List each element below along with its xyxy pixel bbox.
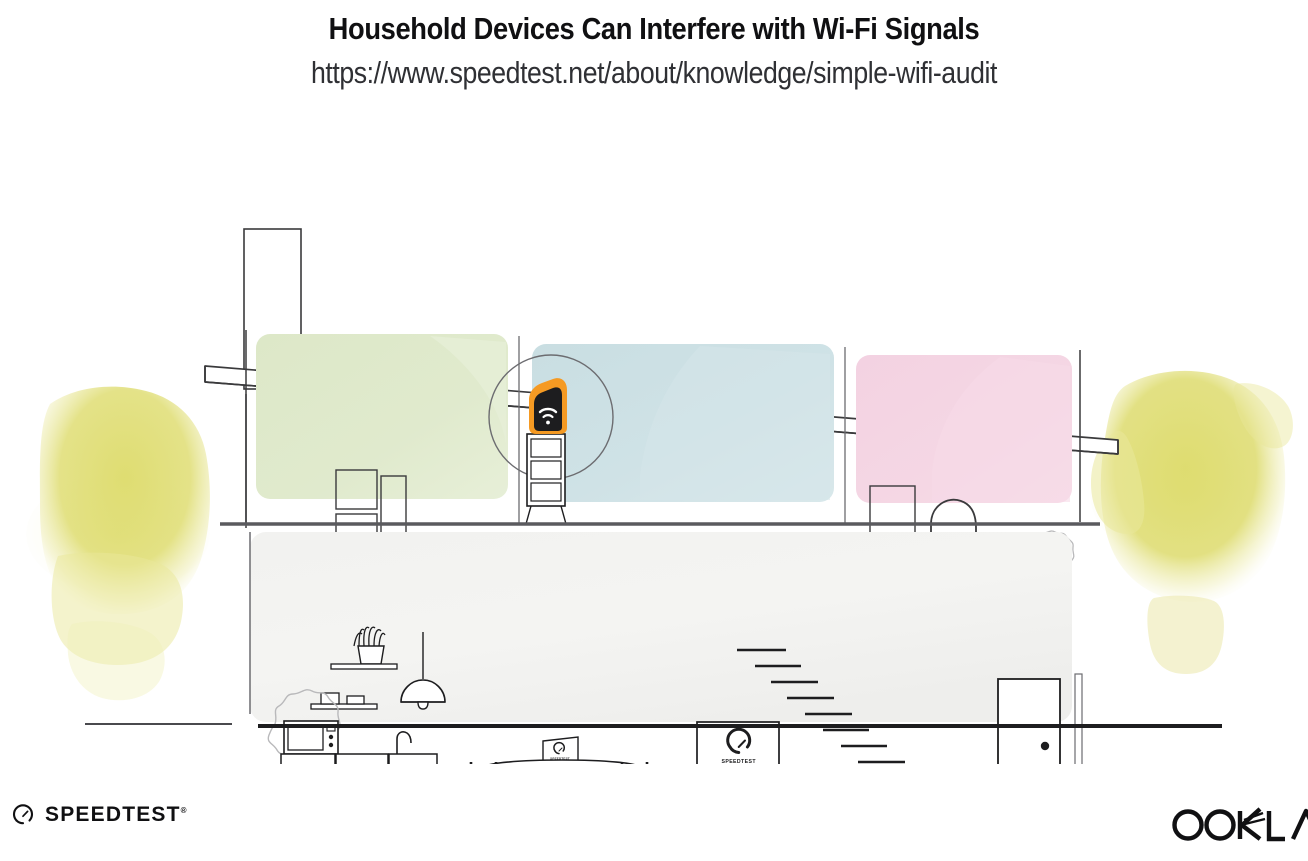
page-root: Household Devices Can Interfere with Wi-… xyxy=(0,0,1308,861)
speedtest-wordmark-text: SPEEDTEST xyxy=(45,803,181,826)
page-title: Household Devices Can Interfere with Wi-… xyxy=(78,0,1229,48)
speedtest-wordmark: SPEEDTEST® xyxy=(45,803,187,827)
tv-screen-label: SPEEDTEST xyxy=(721,759,756,764)
kitchen-sink xyxy=(397,732,411,754)
speedtest-logo[interactable]: SPEEDTEST® xyxy=(10,802,187,828)
living-area: SPEEDTEST xyxy=(691,722,811,764)
house-cutaway-illustration: SPEEDTEST xyxy=(0,104,1308,764)
tree-left xyxy=(26,387,210,701)
source-url: https://www.speedtest.net/about/knowledg… xyxy=(92,48,1217,92)
ookla-wordmark-icon: ™ xyxy=(1164,800,1308,846)
ookla-logo[interactable]: ™ xyxy=(1164,800,1308,851)
dining-table xyxy=(485,760,639,764)
speedtest-trademark: ® xyxy=(181,806,187,815)
chair-left xyxy=(468,762,500,764)
wall-shelf-upper xyxy=(331,664,397,669)
right-post xyxy=(1075,674,1082,764)
speedtest-gauge-icon xyxy=(10,802,36,828)
tree-right xyxy=(1090,371,1293,674)
dresser xyxy=(526,434,566,524)
door-knob-icon[interactable] xyxy=(1041,742,1049,750)
ground-floor: SPEEDTEST xyxy=(250,532,1082,764)
footer: SPEEDTEST® ™ xyxy=(0,786,1308,861)
television[interactable]: SPEEDTEST xyxy=(697,722,779,764)
header: Household Devices Can Interfere with Wi-… xyxy=(0,0,1308,92)
kitchen-counter xyxy=(281,754,437,764)
ground-lines xyxy=(85,724,1222,726)
dining-area: SPEEDTEST xyxy=(448,737,690,764)
